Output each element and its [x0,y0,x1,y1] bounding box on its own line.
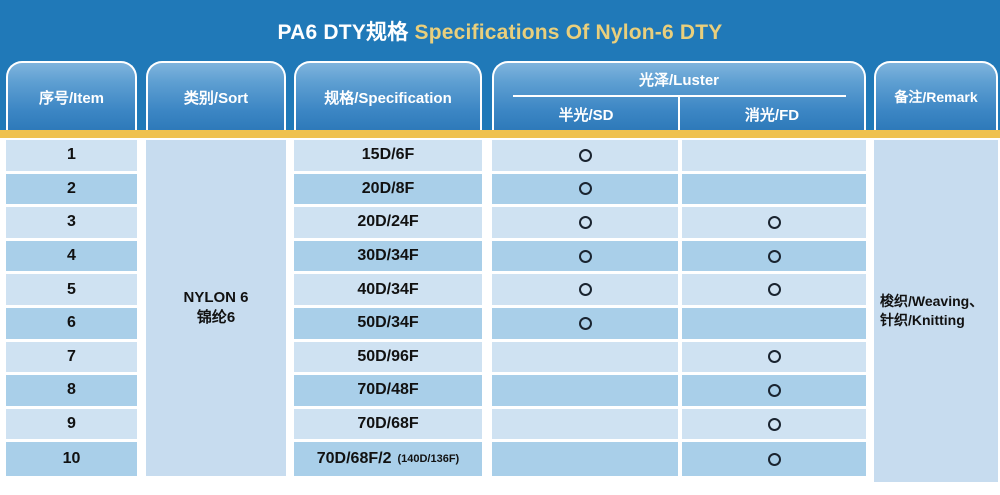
header-luster-group[interactable]: 光泽/Luster 半光/SD 消光/FD [492,61,866,131]
cell-luster-fd [682,140,866,174]
cell-specification: 20D/8F [294,174,482,208]
cell-item: 7 [6,342,137,376]
header-sort-label: 类别/Sort [184,87,248,108]
specification-main: 70D/68F [357,415,418,433]
cell-specification: 70D/68F [294,409,482,443]
header-item-label: 序号/Item [39,87,104,108]
circle-marker-icon [579,182,592,195]
specification-main: 70D/48F [357,381,418,399]
cell-luster-sd [492,140,678,174]
cell-specification: 40D/34F [294,274,482,308]
column-luster-fd [682,140,866,476]
circle-marker-icon [768,350,781,363]
spec-table-page: PA6 DTY规格 Specifications Of Nylon-6 DTY … [0,0,1000,495]
circle-marker-icon [579,149,592,162]
cell-luster-sd [492,308,678,342]
cell-luster-fd [682,241,866,275]
page-title: PA6 DTY规格 Specifications Of Nylon-6 DTY [0,16,1000,46]
specification-main: 40D/34F [357,281,418,299]
circle-marker-icon [768,453,781,466]
cell-luster-sd [492,174,678,208]
cell-item: 8 [6,375,137,409]
cell-item: 10 [6,442,137,476]
header-luster-sd[interactable]: 半光/SD [494,97,678,131]
cell-sort-merged: NYLON 6 锦纶6 [146,140,286,476]
header-luster-sd-label: 半光/SD [558,104,613,125]
header-item[interactable]: 序号/Item [6,61,137,131]
cell-luster-fd [682,308,866,342]
cell-specification: 70D/48F [294,375,482,409]
cell-specification: 30D/34F [294,241,482,275]
cell-item: 6 [6,308,137,342]
cell-specification: 50D/96F [294,342,482,376]
cell-specification: 70D/68F/2(140D/136F) [294,442,482,476]
cell-luster-fd [682,207,866,241]
specification-main: 15D/6F [362,146,414,164]
specification-main: 20D/24F [357,213,418,231]
cell-item: 5 [6,274,137,308]
specification-sub: (140D/136F) [397,453,459,465]
circle-marker-icon [768,384,781,397]
cell-item: 4 [6,241,137,275]
cell-remark-merged: 梭织/Weaving、 针织/Knitting [874,140,998,482]
header-luster-fd[interactable]: 消光/FD [678,97,864,131]
cell-luster-fd [682,442,866,476]
specification-main: 50D/34F [357,314,418,332]
cell-specification: 15D/6F [294,140,482,174]
title-banner: PA6 DTY规格 Specifications Of Nylon-6 DTY … [0,0,1000,138]
cell-luster-fd [682,174,866,208]
table-body: 12345678910 NYLON 6 锦纶6 15D/6F20D/8F20D/… [0,138,1000,495]
cell-luster-sd [492,409,678,443]
cell-luster-sd [492,375,678,409]
circle-marker-icon [768,283,781,296]
specification-main: 50D/96F [357,348,418,366]
circle-marker-icon [768,216,781,229]
specification-main: 20D/8F [362,180,414,198]
specification-main: 70D/68F/2 [317,450,392,468]
column-specification: 15D/6F20D/8F20D/24F30D/34F40D/34F50D/34F… [294,140,482,476]
sort-line-1: NYLON 6 [183,288,248,308]
header-luster-subcolumns: 半光/SD 消光/FD [494,97,864,131]
circle-marker-icon [768,418,781,431]
circle-marker-icon [579,317,592,330]
header-luster-label: 光泽/Luster [494,70,864,95]
header-remark-label: 备注/Remark [894,87,977,107]
cell-luster-fd [682,274,866,308]
circle-marker-icon [768,250,781,263]
header-specification[interactable]: 规格/Specification [294,61,482,131]
cell-luster-sd [492,241,678,275]
cell-item: 1 [6,140,137,174]
cell-luster-sd [492,342,678,376]
column-luster-sd [492,140,678,476]
gold-separator-bar [0,130,1000,138]
circle-marker-icon [579,283,592,296]
cell-luster-fd [682,342,866,376]
cell-luster-sd [492,274,678,308]
cell-luster-fd [682,375,866,409]
specification-main: 30D/34F [357,247,418,265]
header-sort[interactable]: 类别/Sort [146,61,286,131]
header-specification-label: 规格/Specification [324,87,452,108]
circle-marker-icon [579,250,592,263]
remark-line-1: 梭织/Weaving、 [880,292,983,311]
remark-line-2: 针织/Knitting [880,311,983,330]
sort-line-2: 锦纶6 [183,308,248,328]
cell-specification: 20D/24F [294,207,482,241]
page-title-cn: PA6 DTY规格 [278,21,409,44]
circle-marker-icon [579,216,592,229]
cell-specification: 50D/34F [294,308,482,342]
cell-luster-sd [492,442,678,476]
cell-item: 9 [6,409,137,443]
cell-luster-sd [492,207,678,241]
cell-item: 3 [6,207,137,241]
column-item: 12345678910 [6,140,137,476]
cell-item: 2 [6,174,137,208]
header-remark[interactable]: 备注/Remark [874,61,998,131]
page-title-en: Specifications Of Nylon-6 DTY [414,21,722,44]
cell-luster-fd [682,409,866,443]
header-luster-fd-label: 消光/FD [745,104,799,125]
